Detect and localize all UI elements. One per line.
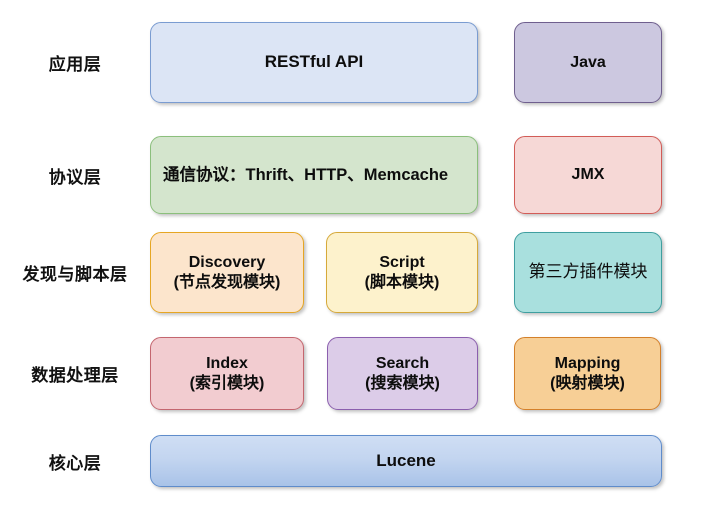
node-java[interactable]: Java (514, 22, 662, 103)
row-label-application: 应用层 (10, 40, 140, 85)
row-label-core: 核心层 (10, 439, 140, 484)
node-label-sub: (索引模块) (190, 374, 265, 394)
node-label: JMX (572, 165, 605, 185)
node-label: 第三方插件模块 (529, 262, 648, 283)
row-label-data-processing: 数据处理层 (10, 351, 140, 396)
row-label-text: 应用层 (49, 50, 102, 75)
node-lucene[interactable]: Lucene (150, 435, 662, 487)
node-label: 通信协议：Thrift、HTTP、Memcache (163, 165, 448, 185)
node-third-party-plugin[interactable]: 第三方插件模块 (514, 232, 662, 313)
node-mapping[interactable]: Mapping (映射模块) (514, 337, 661, 410)
row-label-discovery-script: 发现与脚本层 (10, 250, 140, 295)
node-label-main: Script (379, 253, 424, 273)
node-label-main: Discovery (189, 253, 266, 273)
row-label-protocol: 协议层 (10, 153, 140, 198)
row-label-text: 核心层 (49, 449, 102, 474)
node-discovery[interactable]: Discovery (节点发现模块) (150, 232, 304, 313)
node-label-main: Search (376, 354, 429, 374)
node-search[interactable]: Search (搜索模块) (327, 337, 478, 410)
node-label: Java (570, 53, 606, 73)
architecture-diagram: 应用层 协议层 发现与脚本层 数据处理层 核心层 RESTful API Jav… (0, 0, 727, 520)
node-label: RESTful API (265, 52, 364, 73)
node-label-sub: (脚本模块) (365, 273, 440, 293)
node-label-sub: (映射模块) (550, 374, 625, 394)
node-label-main: Mapping (555, 354, 621, 374)
node-label: Lucene (376, 451, 436, 472)
node-script[interactable]: Script (脚本模块) (326, 232, 478, 313)
row-label-text: 发现与脚本层 (23, 260, 128, 285)
node-jmx[interactable]: JMX (514, 136, 662, 214)
node-index[interactable]: Index (索引模块) (150, 337, 304, 410)
node-label-main: Index (206, 354, 248, 374)
row-label-text: 协议层 (49, 163, 102, 188)
node-communication-protocol[interactable]: 通信协议：Thrift、HTTP、Memcache (150, 136, 478, 214)
node-restful-api[interactable]: RESTful API (150, 22, 478, 103)
node-label-sub: (节点发现模块) (174, 273, 281, 293)
node-label-sub: (搜索模块) (365, 374, 440, 394)
row-label-text: 数据处理层 (31, 361, 119, 386)
